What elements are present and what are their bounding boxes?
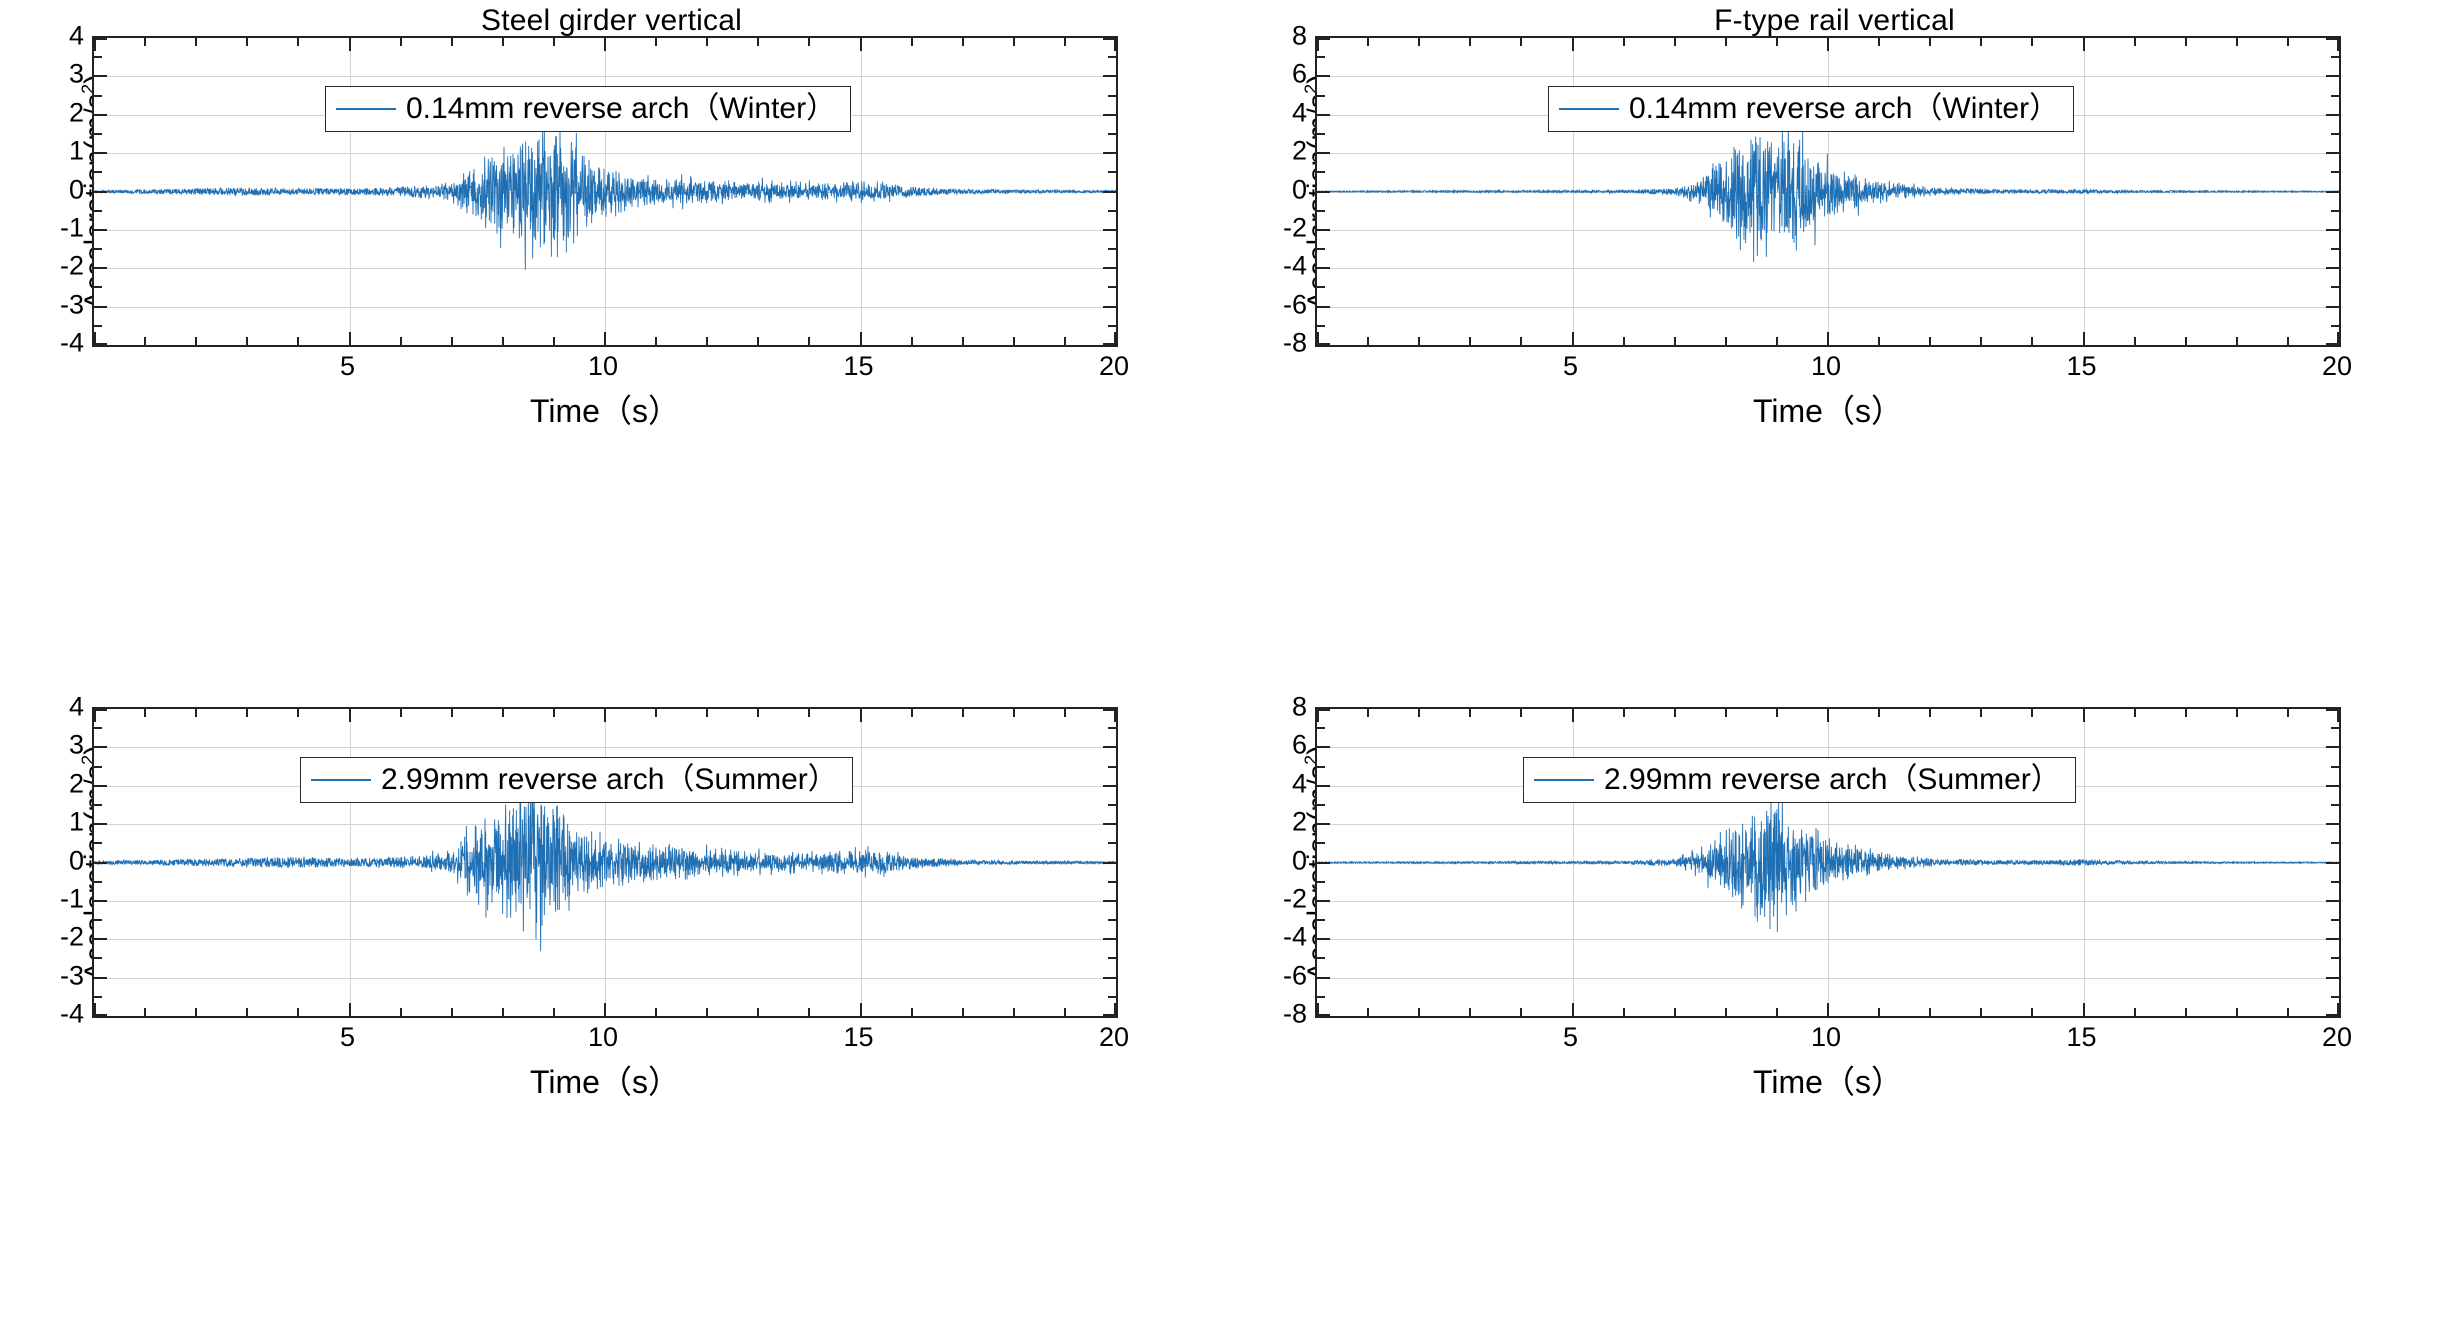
series-trace xyxy=(94,38,1116,345)
x-tick-label: 15 xyxy=(2066,351,2096,382)
x-axis-title: Time（s） xyxy=(1315,386,2341,432)
figure-grid: Steel girder vertical Acceleration(m/s2)… xyxy=(0,0,2446,1342)
x-tick-label: 5 xyxy=(340,1022,355,1053)
y-tick-label: -2 xyxy=(1283,212,1307,243)
panel-f-rail-winter: F-type rail vertical Acceleration(m/s2) … xyxy=(1223,0,2446,671)
legend-line-icon xyxy=(1534,779,1594,781)
x-tick-label: 20 xyxy=(1099,351,1129,382)
x-tick-label: 5 xyxy=(1563,1022,1578,1053)
y-tick-label: -2 xyxy=(60,251,84,282)
legend-label: 2.99mm reverse arch（Summer） xyxy=(381,765,838,795)
legend-label: 2.99mm reverse arch（Summer） xyxy=(1604,765,2061,795)
x-axis-title: Time（s） xyxy=(92,386,1118,432)
y-tick-label: 4 xyxy=(1292,768,1307,799)
y-tick-label: -3 xyxy=(60,960,84,991)
x-tick-label: 20 xyxy=(2322,1022,2352,1053)
x-tick-label: 10 xyxy=(1811,351,1841,382)
series-trace xyxy=(1317,709,2339,1016)
y-tick-label: -4 xyxy=(60,328,84,359)
y-tick-label: 2 xyxy=(69,768,84,799)
y-tick-label: -2 xyxy=(1283,883,1307,914)
y-tick-label: -8 xyxy=(1283,328,1307,359)
x-tick-labels: 5101520 xyxy=(92,1022,1118,1062)
y-tick-label: 6 xyxy=(1292,59,1307,90)
panel-steel-girder-summer: Acceleration(m/s2) -4-3-2-101234 2.99mm … xyxy=(0,671,1223,1342)
waveform-svg xyxy=(94,38,1116,345)
plot-area xyxy=(92,36,1118,347)
x-tick-labels: 5101520 xyxy=(1315,1022,2341,1062)
plot-area xyxy=(1315,36,2341,347)
y-tick-label: 8 xyxy=(1292,692,1307,723)
y-tick-label: 2 xyxy=(69,97,84,128)
y-tick-label: -1 xyxy=(60,883,84,914)
y-tick-label: -1 xyxy=(60,212,84,243)
y-tick-labels: -4-3-2-101234 xyxy=(4,36,84,347)
y-tick-label: -3 xyxy=(60,289,84,320)
y-tick-labels: -8-6-4-202468 xyxy=(1227,707,1307,1018)
y-tick-label: -6 xyxy=(1283,960,1307,991)
y-tick-label: 4 xyxy=(69,692,84,723)
x-tick-labels: 5101520 xyxy=(1315,351,2341,391)
y-tick-labels: -4-3-2-101234 xyxy=(4,707,84,1018)
y-tick-label: 0 xyxy=(69,845,84,876)
y-tick-label: 0 xyxy=(1292,845,1307,876)
y-tick-label: -4 xyxy=(1283,251,1307,282)
waveform-path xyxy=(1317,794,2339,932)
x-tick-label: 10 xyxy=(588,351,618,382)
y-tick-label: -4 xyxy=(1283,922,1307,953)
legend-box[interactable]: 2.99mm reverse arch（Summer） xyxy=(1523,757,2076,803)
y-tick-label: 2 xyxy=(1292,136,1307,167)
series-trace xyxy=(1317,38,2339,345)
y-tick-label: 2 xyxy=(1292,807,1307,838)
waveform-path xyxy=(1317,127,2339,263)
x-tick-label: 5 xyxy=(340,351,355,382)
x-tick-label: 10 xyxy=(1811,1022,1841,1053)
x-tick-label: 20 xyxy=(2322,351,2352,382)
x-tick-labels: 5101520 xyxy=(92,351,1118,391)
y-tick-label: -6 xyxy=(1283,289,1307,320)
y-tick-label: 3 xyxy=(69,59,84,90)
y-tick-label: -4 xyxy=(60,999,84,1030)
y-tick-labels: -8-6-4-202468 xyxy=(1227,36,1307,347)
waveform-svg xyxy=(94,709,1116,1016)
x-tick-label: 15 xyxy=(2066,1022,2096,1053)
y-tick-label: 4 xyxy=(69,21,84,52)
panel-steel-girder-winter: Steel girder vertical Acceleration(m/s2)… xyxy=(0,0,1223,671)
legend-label: 0.14mm reverse arch（Winter） xyxy=(406,94,836,124)
legend-line-icon xyxy=(336,108,396,110)
y-tick-label: 1 xyxy=(69,807,84,838)
waveform-svg xyxy=(1317,38,2339,345)
x-tick-label: 20 xyxy=(1099,1022,1129,1053)
legend-box[interactable]: 0.14mm reverse arch（Winter） xyxy=(325,86,851,132)
panel-title: Steel girder vertical xyxy=(0,4,1223,38)
legend-line-icon xyxy=(311,779,371,781)
x-axis-title: Time（s） xyxy=(92,1057,1118,1103)
series-trace xyxy=(94,709,1116,1016)
x-axis-title: Time（s） xyxy=(1315,1057,2341,1103)
waveform-path xyxy=(94,787,1116,951)
waveform-svg xyxy=(1317,709,2339,1016)
y-tick-label: -8 xyxy=(1283,999,1307,1030)
panel-f-rail-summer: Acceleration(m/s2) -8-6-4-202468 2.99mm … xyxy=(1223,671,2446,1342)
x-tick-label: 5 xyxy=(1563,351,1578,382)
plot-area xyxy=(1315,707,2341,1018)
waveform-path xyxy=(94,129,1116,270)
legend-line-icon xyxy=(1559,108,1619,110)
x-tick-label: 15 xyxy=(843,351,873,382)
legend-box[interactable]: 2.99mm reverse arch（Summer） xyxy=(300,757,853,803)
y-tick-label: 4 xyxy=(1292,97,1307,128)
plot-area xyxy=(92,707,1118,1018)
y-tick-label: 6 xyxy=(1292,730,1307,761)
y-tick-label: -2 xyxy=(60,922,84,953)
y-tick-label: 8 xyxy=(1292,21,1307,52)
x-tick-label: 10 xyxy=(588,1022,618,1053)
legend-box[interactable]: 0.14mm reverse arch（Winter） xyxy=(1548,86,2074,132)
y-tick-label: 1 xyxy=(69,136,84,167)
y-tick-label: 0 xyxy=(69,174,84,205)
legend-label: 0.14mm reverse arch（Winter） xyxy=(1629,94,2059,124)
y-tick-label: 0 xyxy=(1292,174,1307,205)
x-tick-label: 15 xyxy=(843,1022,873,1053)
y-tick-label: 3 xyxy=(69,730,84,761)
panel-title: F-type rail vertical xyxy=(1223,4,2446,38)
